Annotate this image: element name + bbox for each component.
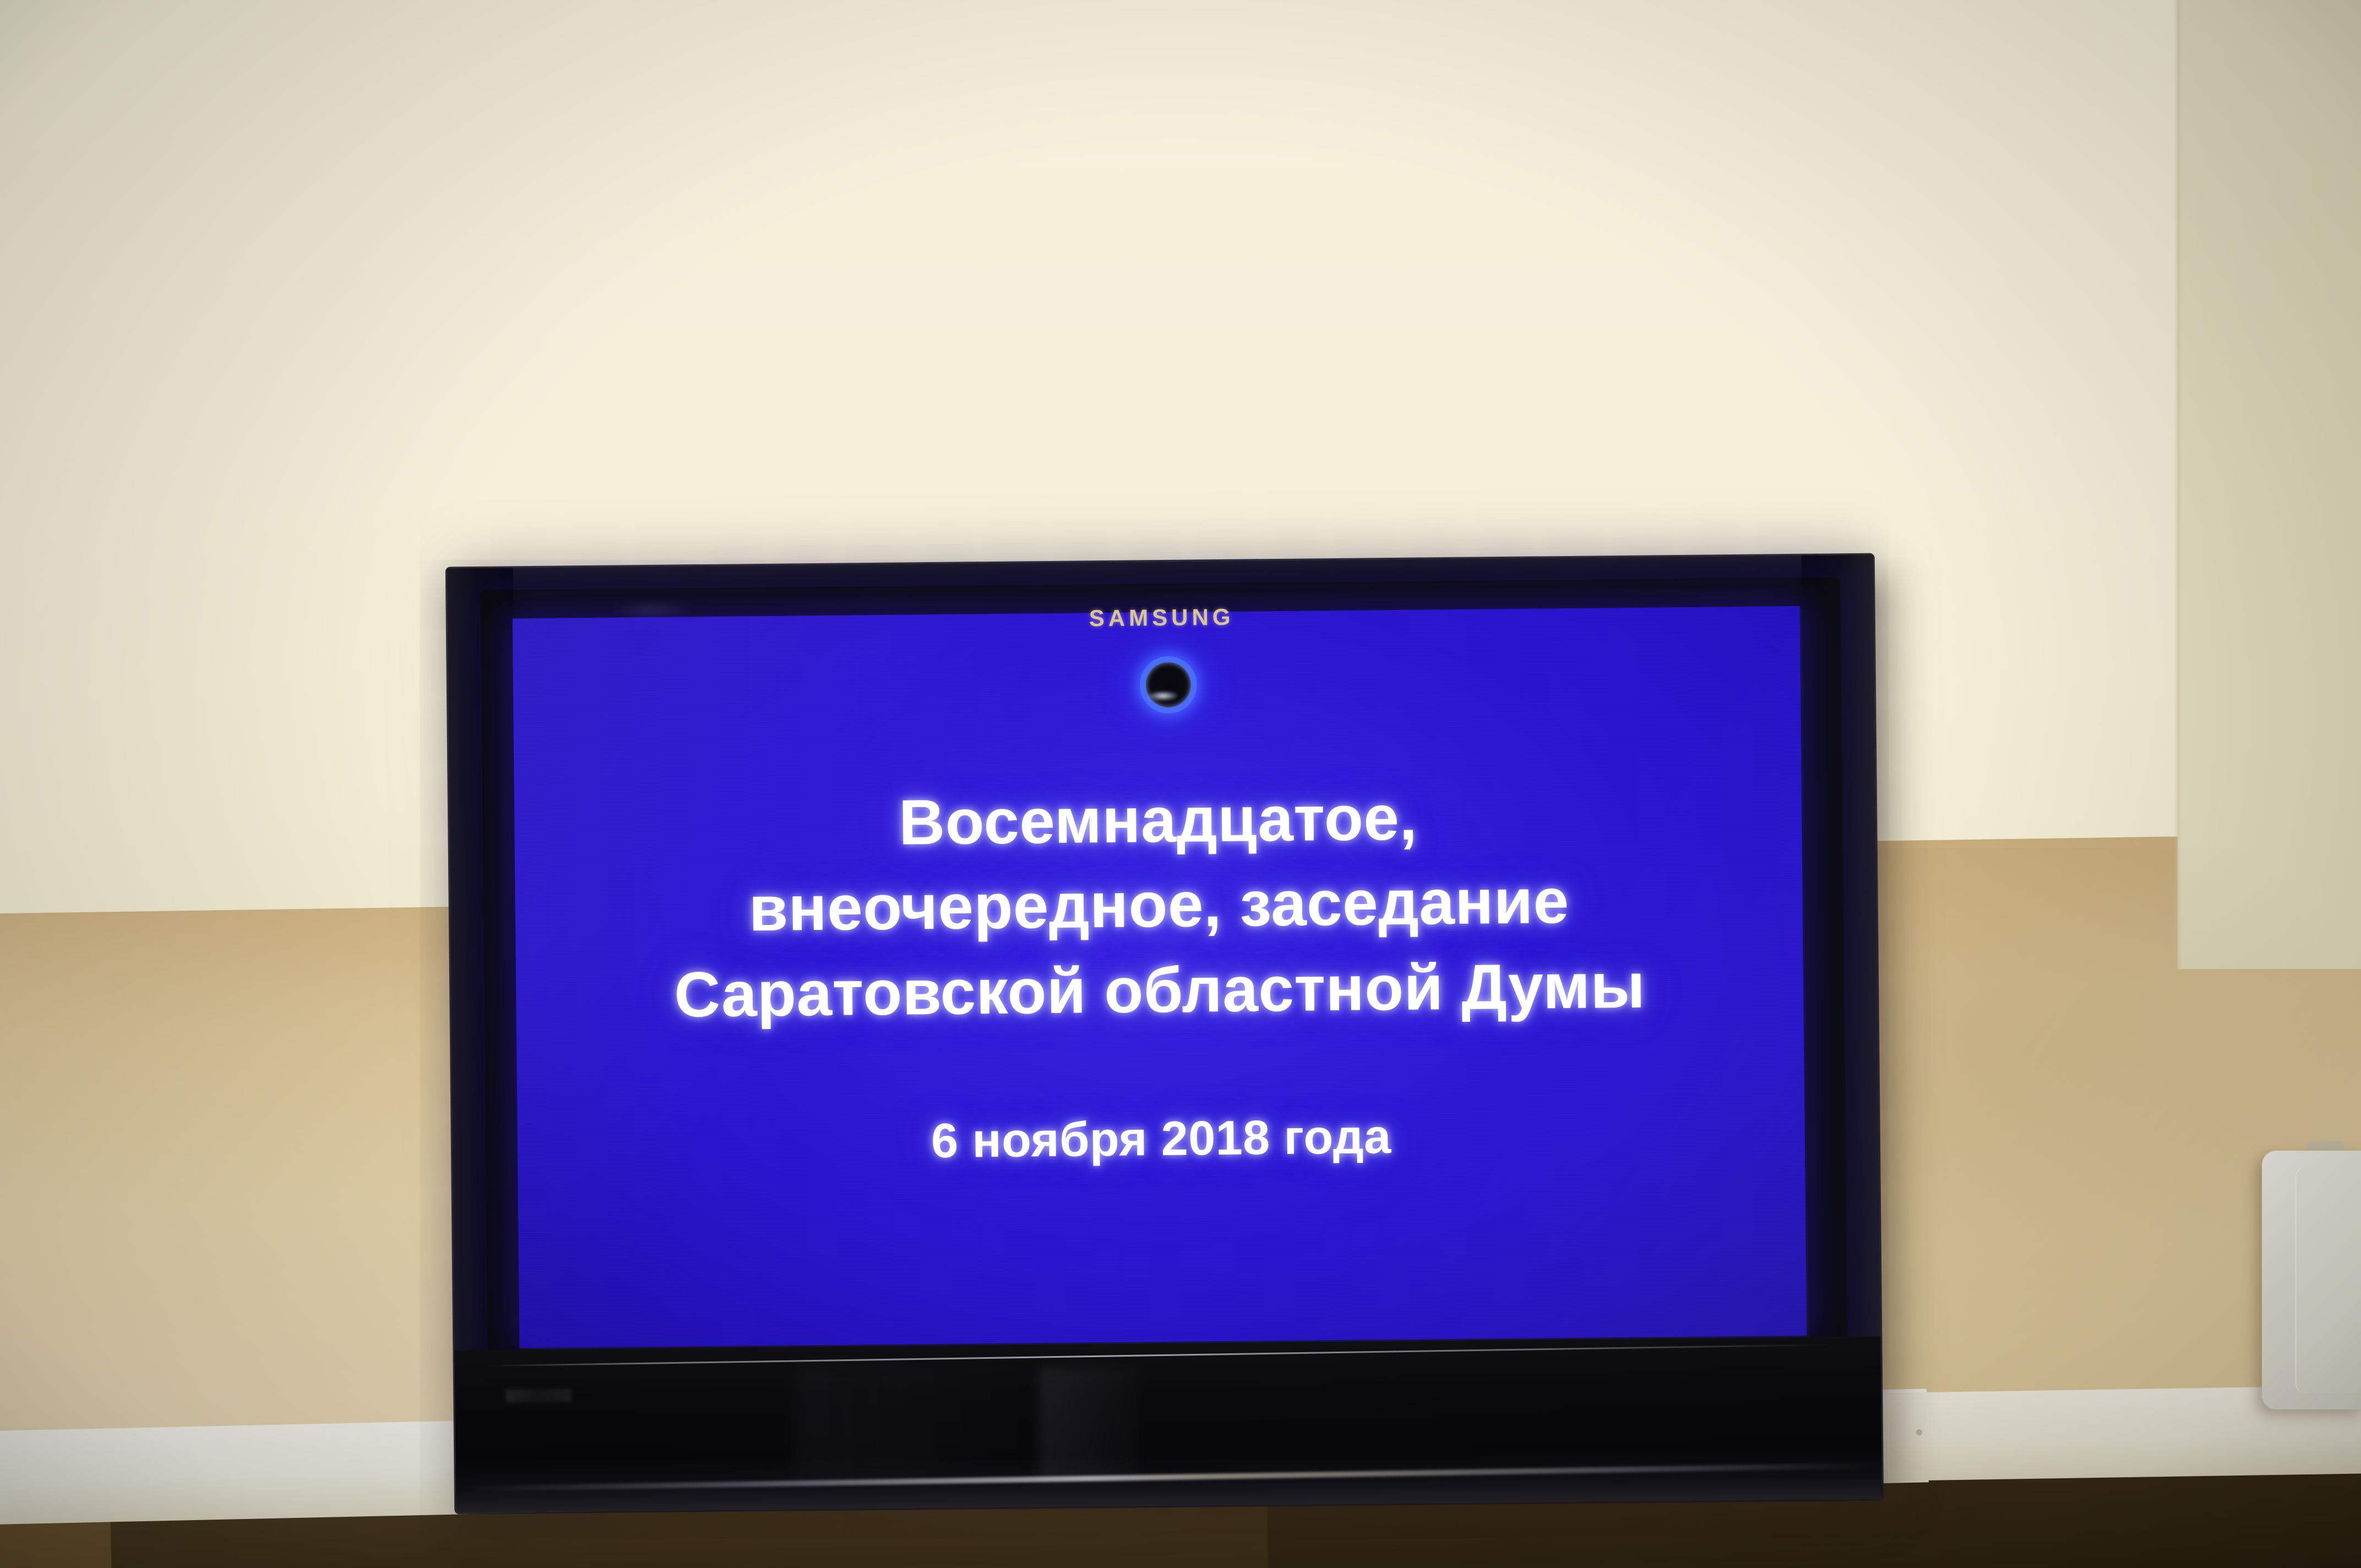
bezel-reflection-right [1038, 1367, 1139, 1481]
wall-box-face [2295, 1167, 2361, 1393]
wall-corner-edge [2174, 0, 2182, 969]
slide-date: 6 ноября 2018 года [931, 1108, 1391, 1169]
wall-corner-shaded-panel [2178, 0, 2361, 969]
bezel-bottom-gloss-line [467, 1463, 1876, 1491]
power-led-indicator[interactable] [1139, 656, 1197, 714]
television-unit: Восемнадцатое, внеочередное, заседание С… [447, 555, 1882, 1513]
slide-title-line-1: Восемнадцатое, [672, 773, 1644, 867]
ledge-blemish-mark-right [1916, 1429, 1922, 1435]
screenshot-root: Восемнадцатое, внеочередное, заседание С… [0, 0, 2361, 1568]
tv-screen[interactable]: Восемнадцатое, внеочередное, заседание С… [513, 606, 1807, 1348]
samsung-brand-logo: SAMSUNG [1065, 603, 1258, 631]
presentation-slide: Восемнадцатое, внеочередное, заседание С… [513, 606, 1807, 1348]
bezel-reflection-left [796, 1364, 1034, 1477]
slide-title: Восемнадцатое, внеочередное, заседание С… [672, 773, 1646, 1037]
slide-title-line-3: Саратовской областной Думы [674, 943, 1646, 1037]
ir-receiver-window [505, 1389, 572, 1402]
tv-bezel-left [447, 568, 521, 1361]
tv-bezel-bottom [454, 1337, 1882, 1513]
slide-title-line-2: внеочередное, заседание [673, 858, 1645, 952]
tv-bezel-right [1802, 555, 1881, 1348]
